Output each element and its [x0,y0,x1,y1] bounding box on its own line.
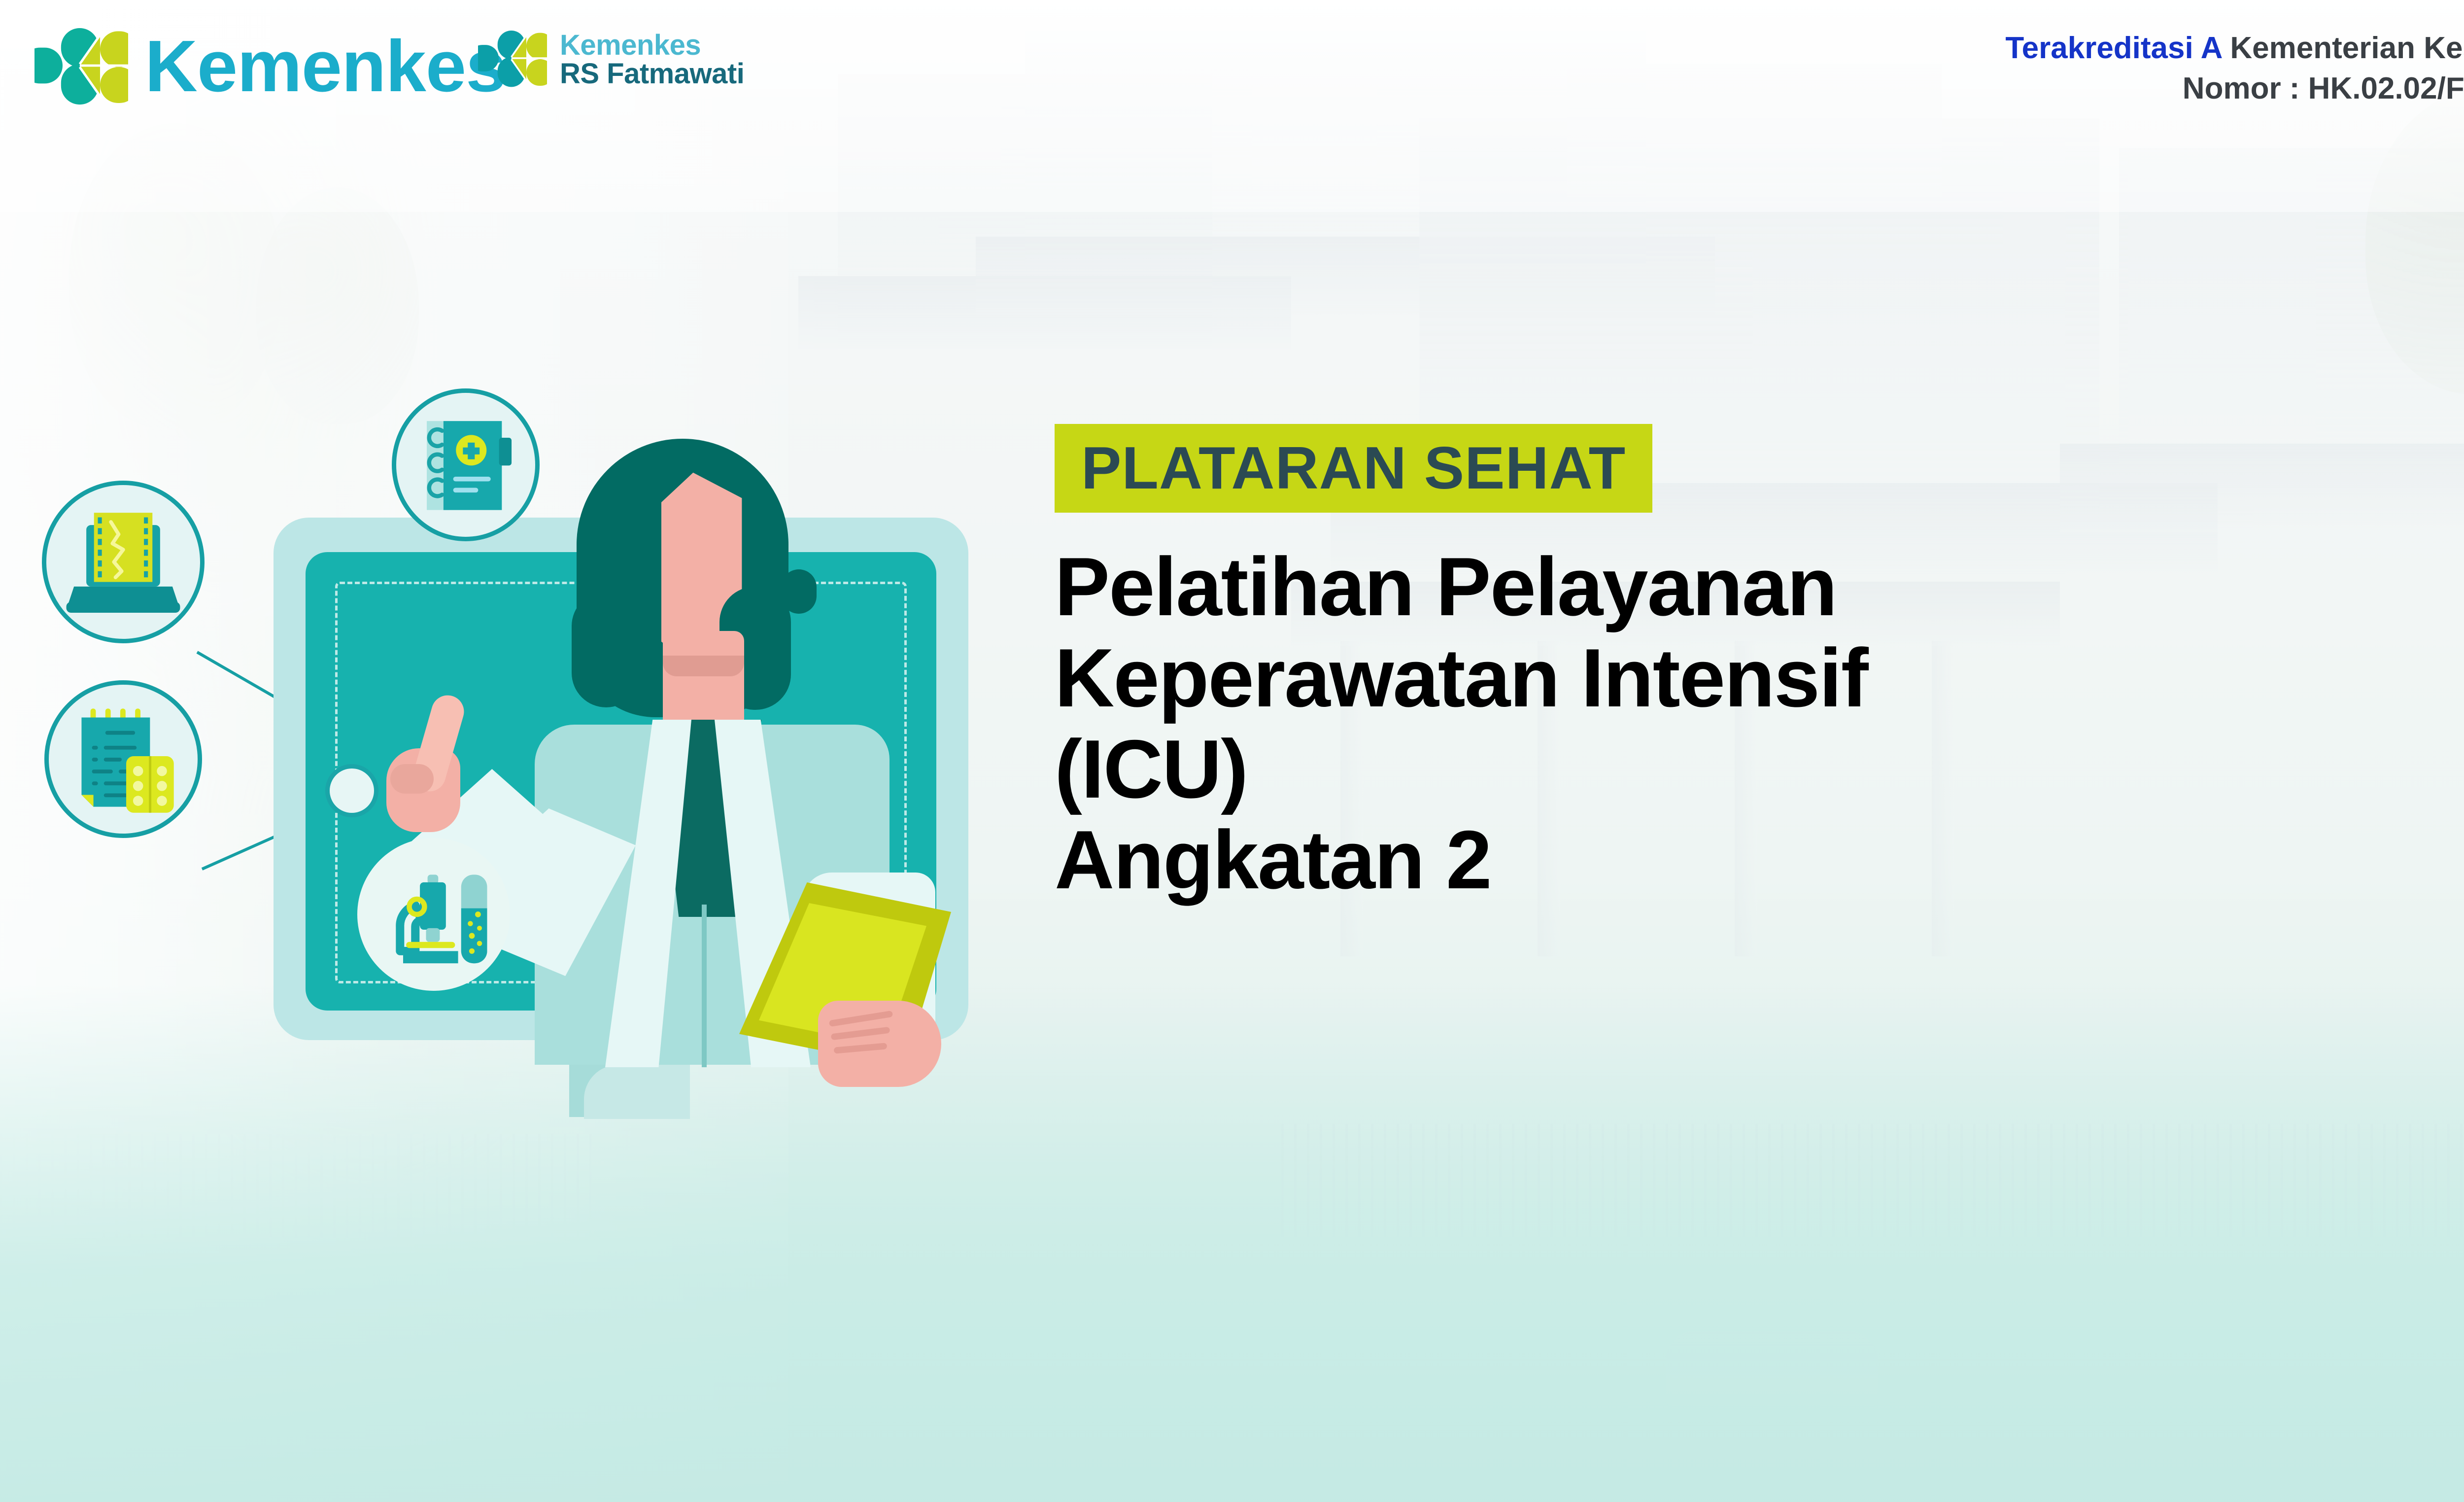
doctor-monitor-illustration [0,375,1074,1183]
kemenkes-wordmark: Kemenkes [145,32,506,102]
hand-knuckle [390,764,434,794]
accreditation-number: Nomor : HK.02.02/F/3665/2023 [2005,70,2464,107]
plataran-sehat-badge: PLATARAN SEHAT [1055,424,1652,513]
title-line-1: Pelatihan Pelayanan [1055,541,2464,632]
ecg-monitor-icon [67,513,180,613]
badge-medical-record [392,388,540,541]
title-line-2: Keperawatan Intensif [1055,632,2464,724]
page-title: Pelatihan Pelayanan Keperawatan Intensif… [1055,541,2464,906]
character-hand-right [818,1001,941,1087]
character-pointing-hand [376,690,489,838]
rs-fatmawati-logo: Kemenkes RS Fatmawati [478,24,744,95]
kemenkes-pinwheel-icon [34,19,128,115]
accreditation-block: Terakreditasi A Kementerian Kesehatan RI… [2005,30,2464,107]
badge-microscope-lab [357,838,510,991]
coat-center-seam [702,905,707,1067]
fatmawati-line2: RS Fatmawati [560,60,744,88]
content-block: PLATARAN SEHAT Pelatihan Pelayanan Keper… [1055,424,2464,906]
microscope-test-tube-icon [400,874,487,963]
character-hair-curl-left [572,592,641,707]
character-collar-shadow [663,656,744,676]
medical-record-book-icon [427,421,512,510]
accreditation-authority: Kementerian Kesehatan RI [2230,31,2464,65]
title-line-3: (ICU) [1055,724,2464,815]
eyebrow-label: PLATARAN SEHAT [1081,438,1626,498]
fatmawati-line1: Kemenkes [560,31,744,60]
screen-hotspot-dot [325,764,378,817]
prescription-pad-pills-icon [81,708,173,812]
page-header: Kemenkes Kemenkes RS [0,0,2464,148]
kemenkes-pinwheel-icon [478,24,547,95]
accreditation-status-row: Terakreditasi A Kementerian Kesehatan RI [2005,30,2464,67]
character-ear [781,569,817,614]
badge-ecg-monitor [42,481,205,643]
kemenkes-logo: Kemenkes [34,19,506,115]
badge-prescription-pills [44,680,202,838]
rs-fatmawati-wordmark: Kemenkes RS Fatmawati [560,31,744,88]
title-line-4: Angkatan 2 [1055,814,2464,906]
accreditation-status: Terakreditasi A [2005,31,2222,65]
